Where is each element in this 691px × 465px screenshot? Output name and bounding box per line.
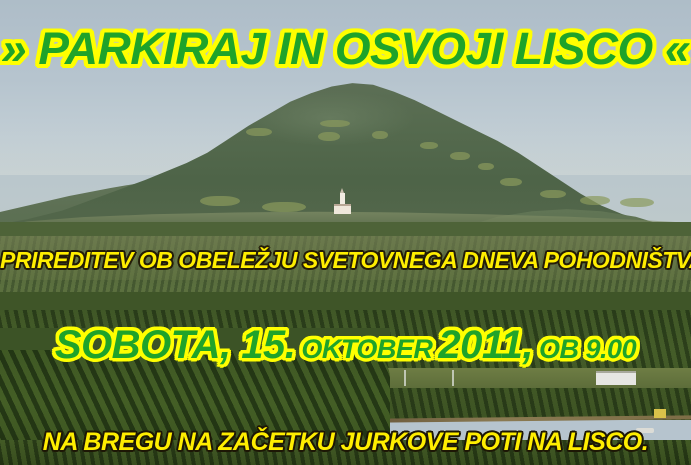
church-nave bbox=[334, 204, 351, 214]
poster-subtitle: PRIREDITEV OB OBELEŽJU SVETOVNEGA DNEVA … bbox=[0, 249, 691, 272]
far-bank-building bbox=[596, 371, 636, 385]
meadow-patch bbox=[420, 142, 438, 149]
meadow-patch bbox=[478, 163, 494, 170]
date-month: OKTOBER bbox=[301, 334, 432, 364]
meadow-patch bbox=[320, 120, 350, 127]
utility-pole bbox=[452, 370, 454, 386]
date-day: SOBOTA, 15. bbox=[55, 323, 295, 367]
poster-date-line: SOBOTA, 15.OKTOBER2011,OB 9.00 bbox=[0, 325, 691, 365]
meadow-patch bbox=[620, 198, 654, 207]
meadow-patch bbox=[262, 202, 306, 212]
meadow-patch bbox=[540, 190, 566, 198]
meadow-patch bbox=[246, 128, 272, 136]
meadow-patch bbox=[372, 131, 388, 139]
hilltop-church bbox=[334, 193, 351, 213]
meadow-patch bbox=[580, 196, 610, 205]
meadow-patch bbox=[500, 178, 522, 186]
meadow-patch bbox=[318, 132, 340, 141]
poster: » PARKIRAJ IN OSVOJI LISCO « PRIREDITEV … bbox=[0, 0, 691, 465]
poster-location-line: NA BREGU NA ZAČETKU JURKOVE POTI NA LISC… bbox=[0, 430, 691, 455]
poster-headline: » PARKIRAJ IN OSVOJI LISCO « bbox=[0, 26, 691, 71]
boom-buoy bbox=[654, 409, 666, 418]
utility-pole bbox=[404, 370, 406, 386]
meadow-patch bbox=[450, 152, 470, 160]
date-year: 2011, bbox=[438, 323, 533, 367]
meadow-patch bbox=[200, 196, 240, 206]
date-time: OB 9.00 bbox=[539, 334, 636, 364]
